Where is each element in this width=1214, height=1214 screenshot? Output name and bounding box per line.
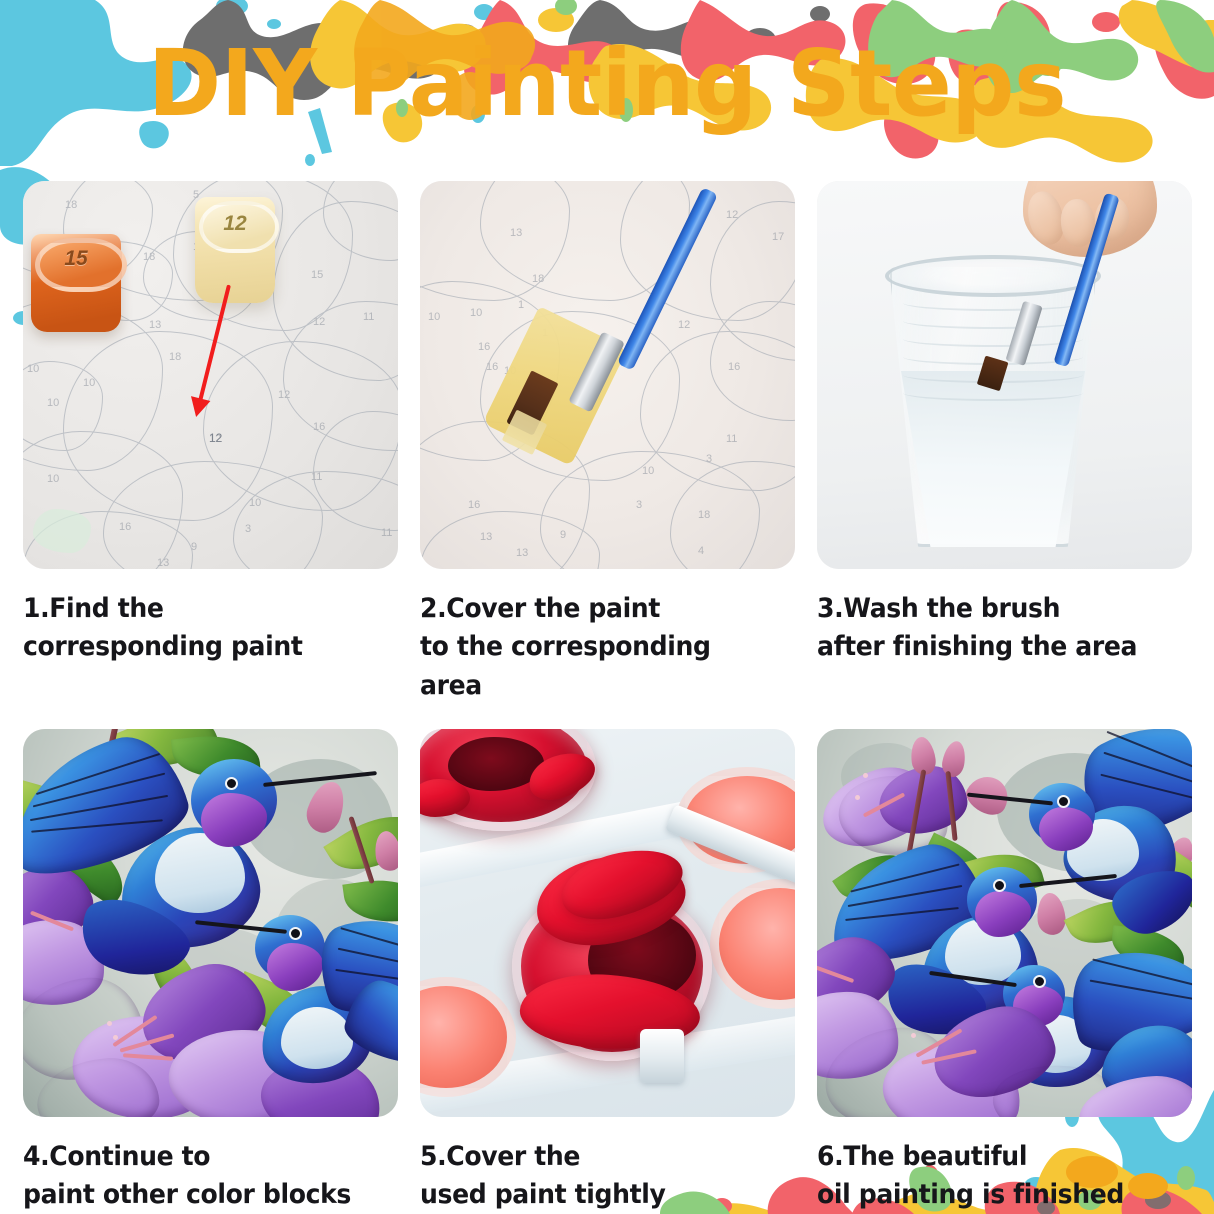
step-cell-2: 13 18 12 17 10 10 12 16 16 16 10 11 3 10 [420,181,795,729]
header: DIY Painting Steps [0,0,1214,170]
step-caption-5: 5.Cover the used paint tightly [420,1138,769,1214]
diy-painting-steps-infographic: DIY Painting Steps [0,0,1214,1214]
step-caption-6: 6.The beautiful oil painting is finished [817,1138,1166,1214]
step-caption-4: 4.Continue to paint other color blocks [23,1138,372,1214]
page-title: DIY Painting Steps [24,36,1189,133]
paint-pot-lid-tab [640,1029,684,1083]
paint-pot-12: 12 [195,197,275,303]
cup-rim [885,255,1101,297]
step-cell-6: 6.The beautiful oil painting is finished [817,729,1192,1214]
step-photo-6-finished-hummingbird-oil-painting [817,729,1192,1117]
paint-pot-15: 15 [31,234,121,332]
step-photo-1-paint-pots-on-numbered-canvas: 18 18 13 18 17 12 15 11 12 10 10 10 16 1… [23,181,398,569]
step-cell-4: 4.Continue to paint other color blocks [23,729,398,1214]
steps-grid: 18 18 13 18 17 12 15 11 12 10 10 10 16 1… [23,181,1192,1214]
step-caption-1: 1.Find the corresponding paint [23,590,372,667]
step-caption-2: 2.Cover the paint to the corresponding a… [420,590,769,705]
step-cell-3: 3.Wash the brush after finishing the are… [817,181,1192,729]
step-cell-5: 5.Cover the used paint tightly [420,729,795,1214]
step-photo-4-partially-painted-hummingbird-canvas [23,729,398,1117]
step-photo-2-brush-applying-yellow-paint: 13 18 12 17 10 10 12 16 16 16 10 11 3 10 [420,181,795,569]
step-photo-5-red-paint-pots-being-sealed [420,729,795,1117]
step-cell-1: 18 18 13 18 17 12 15 11 12 10 10 10 16 1… [23,181,398,729]
step-photo-3-brush-washed-in-water-cup [817,181,1192,569]
step-caption-3: 3.Wash the brush after finishing the are… [817,590,1166,667]
